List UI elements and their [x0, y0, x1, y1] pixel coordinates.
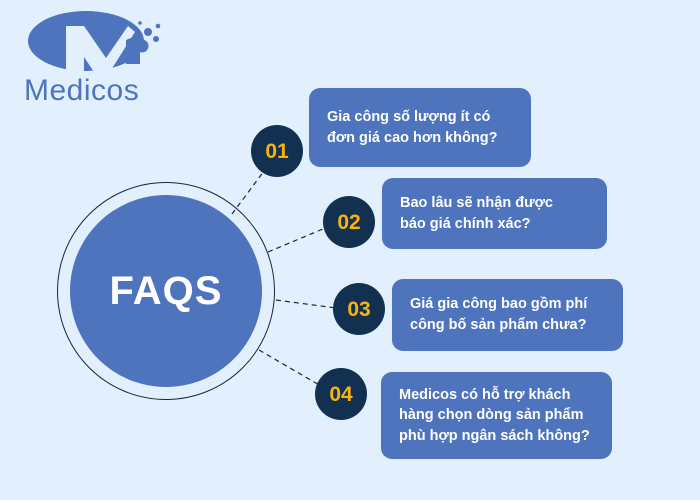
faq-number-badge-4[interactable]: 04	[315, 368, 367, 420]
faq-number-label-4: 04	[329, 384, 352, 405]
faq-infographic: Medicos FAQS 01 Gia công số lượng ít có …	[0, 0, 700, 500]
faq-question-bubble-4[interactable]: Medicos có hỗ trợ khách hàng chọn dòng s…	[381, 372, 612, 459]
faq-item-4: 04 Medicos có hỗ trợ khách hàng chọn dòn…	[0, 0, 700, 500]
faq-question-text-4: Medicos có hỗ trợ khách hàng chọn dòng s…	[399, 385, 590, 447]
